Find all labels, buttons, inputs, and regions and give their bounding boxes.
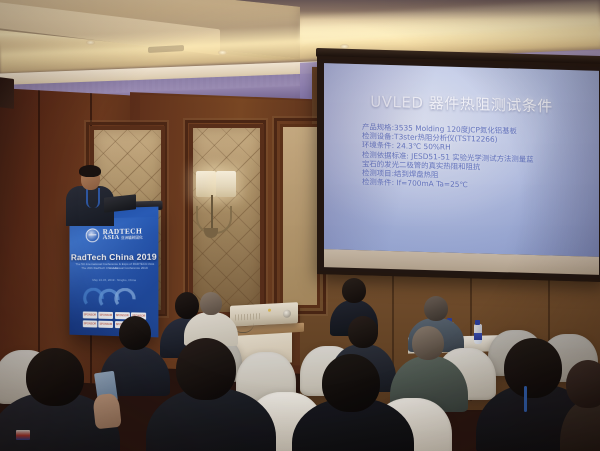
radtech-asia-logo: RADTECH ASIA 亚洲辐射固化 <box>77 227 152 242</box>
slide-title: UVLED 器件热阻测试条件 <box>324 89 599 118</box>
podium: RADTECH ASIA 亚洲辐射固化 RadTech China 2019 T… <box>69 207 158 338</box>
sponsor-logo: SPONSOR <box>99 320 114 327</box>
event-title: RadTech China 2019 <box>69 252 158 263</box>
sconce-shade-right <box>216 171 236 197</box>
projection-screen: UVLED 器件热阻测试条件 产品规格:3535 Molding 120度JCP… <box>317 56 600 282</box>
projector-status-led <box>268 309 271 312</box>
attendee-head <box>119 316 151 350</box>
bottle-label <box>474 333 482 340</box>
attendee-head <box>424 296 448 321</box>
water-bottle <box>474 324 482 344</box>
loudspeaker-icon <box>0 77 14 109</box>
ceiling-downlight <box>218 50 227 55</box>
screen-surface: UVLED 器件热阻测试条件 产品规格:3535 Molding 120度JCP… <box>324 63 599 257</box>
sponsor-logo: SPONSOR <box>99 312 114 319</box>
presenter-lanyard <box>86 188 100 208</box>
attendee-head <box>412 326 444 360</box>
logo-line-2-main: ASIA <box>103 234 119 241</box>
slide-body: 产品规格:3535 Molding 120度JCP氮化铝基板 检测设备:T3st… <box>362 122 583 193</box>
event-subtitle-2: The 20th RadTech China Annual Conference… <box>75 267 154 271</box>
attendee-lanyard <box>524 386 527 412</box>
projector-vent <box>235 313 261 320</box>
ccc-rings-graphic <box>83 288 144 311</box>
bottle-cap <box>475 320 480 325</box>
conference-photo: UVLED 器件热阻测试条件 产品规格:3535 Molding 120度JCP… <box>0 0 600 451</box>
ceiling-downlight <box>86 40 95 45</box>
attendee-head <box>322 354 380 412</box>
attendee-head <box>566 360 600 408</box>
logo-line-2-sub: 亚洲辐射固化 <box>121 236 143 240</box>
logo-line-2: ASIA 亚洲辐射固化 <box>103 235 143 242</box>
presenter-hair <box>79 165 101 177</box>
attendee-head <box>176 338 236 400</box>
sponsor-logo: SPONSOR <box>83 320 97 327</box>
attendee-head <box>504 338 562 398</box>
event-date-line: May 13-15, 2019 · Ningbo, China <box>75 278 154 282</box>
attendee-head <box>348 316 378 348</box>
attendee-head <box>26 348 84 406</box>
globe-icon <box>86 228 100 242</box>
attendee-head <box>342 278 366 303</box>
sconce-shade-left <box>196 171 216 197</box>
attendee-badge <box>16 430 30 440</box>
projector-lens <box>283 309 291 317</box>
sponsor-logo: SPONSOR <box>83 311 97 318</box>
attendee-head <box>200 292 222 315</box>
